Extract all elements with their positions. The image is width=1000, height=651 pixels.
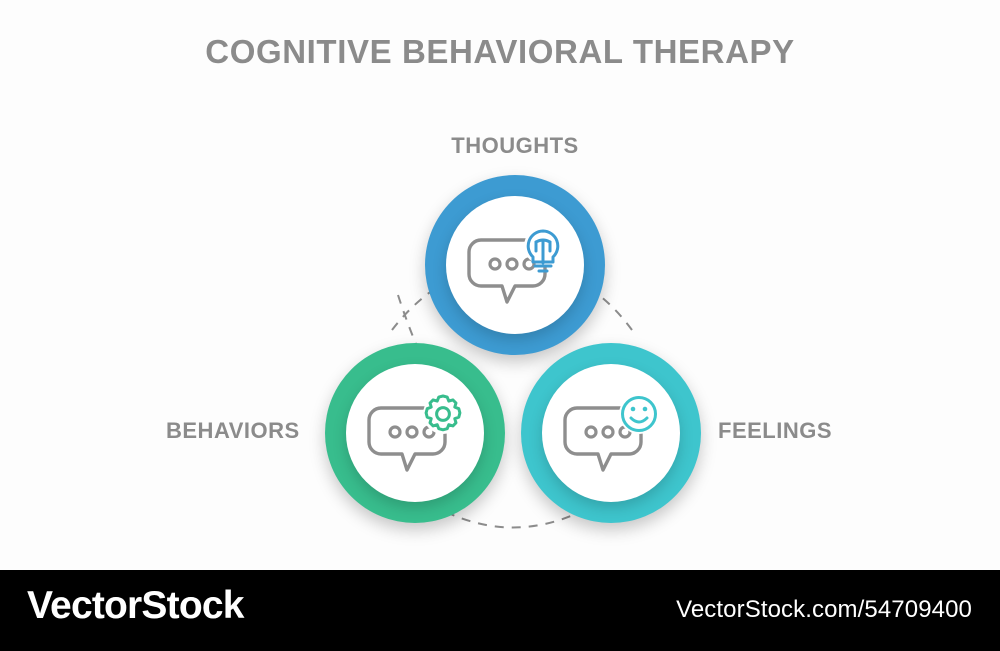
node-feelings[interactable] [521, 343, 701, 523]
speech-bubble-with-lightbulb-icon [463, 222, 567, 308]
bubble-dot-1 [490, 259, 500, 269]
node-behaviors[interactable] [325, 343, 505, 523]
vectorstock-logo: VectorStock [27, 584, 244, 628]
speech-bubble-with-gear-icon [363, 390, 467, 476]
speech-bubble-with-smiley-icon [559, 390, 663, 476]
poster-canvas: COGNITIVE BEHAVIORAL THERAPY [0, 0, 1000, 651]
cbt-triad-diagram: THOUGHTS BEHAVIORS FEELINGS [0, 0, 1000, 570]
bubble-dot-2 [603, 427, 613, 437]
arc-bottom [446, 512, 580, 528]
node-label-feelings: FEELINGS [718, 418, 832, 444]
lightbulb-icon [524, 227, 562, 271]
node-behaviors-inner [346, 364, 484, 502]
gear-icon [423, 394, 463, 434]
watermark-bar: VectorStock VectorStock.com/54709400 [0, 570, 1000, 651]
node-thoughts[interactable] [425, 175, 605, 355]
node-label-thoughts: THOUGHTS [0, 133, 1000, 159]
node-feelings-inner [542, 364, 680, 502]
node-label-behaviors: BEHAVIORS [166, 418, 300, 444]
bubble-dot-2 [407, 427, 417, 437]
smiley-face-icon [619, 394, 659, 434]
bubble-dot-2 [507, 259, 517, 269]
bubble-dot-1 [586, 427, 596, 437]
watermark-url: VectorStock.com/54709400 [676, 596, 972, 624]
bubble-dot-1 [390, 427, 400, 437]
node-thoughts-inner [446, 196, 584, 334]
